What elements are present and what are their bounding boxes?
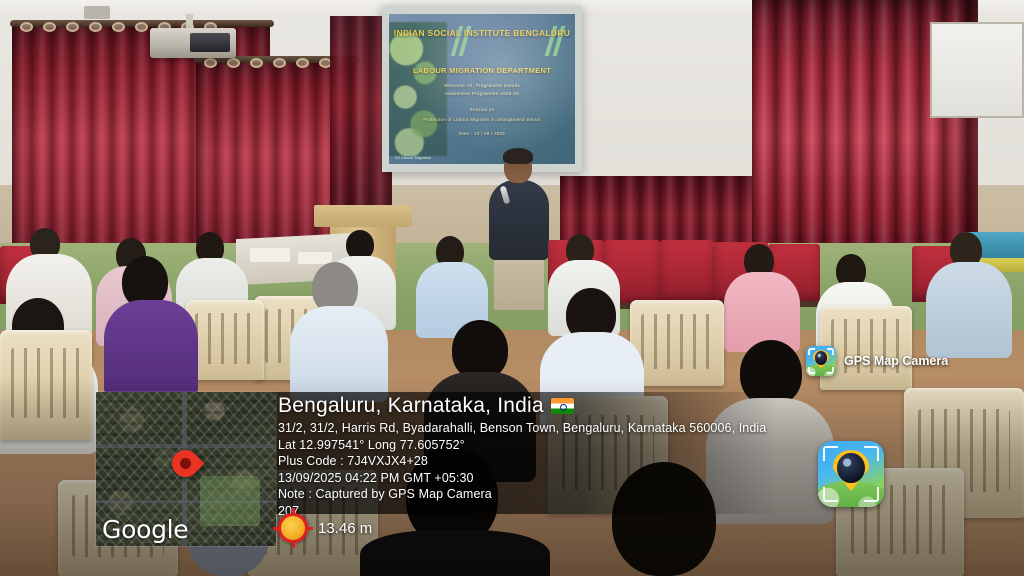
- chair-slats: [11, 348, 81, 418]
- curtain-ring: [112, 22, 125, 32]
- curtain-rings-mid: [204, 58, 332, 68]
- slide-subtitle-2: Awareness Programme 2025-26: [389, 90, 575, 97]
- ceiling-projector: [150, 28, 236, 58]
- curtain-ring: [20, 22, 33, 32]
- whiteboard: [930, 22, 1024, 118]
- slide-badge: ISI Labour Migration: [395, 155, 431, 160]
- capture-timestamp: 13/09/2025 04:22 PM GMT +05:30: [278, 470, 838, 487]
- presenter-hair: [503, 148, 533, 164]
- altitude-value: 13.46 m: [318, 520, 372, 537]
- chair-slats: [641, 314, 712, 369]
- slide-accent-stripe: [451, 26, 464, 56]
- altitude-row: 13.46 m: [278, 513, 372, 543]
- projection-screen: INDIAN SOCIAL INSTITUTE BENGALURU LABOUR…: [389, 14, 575, 164]
- gps-map-camera-logo: [818, 441, 884, 507]
- slide-image-collage: [389, 22, 447, 156]
- curtain-ring: [66, 22, 79, 32]
- map-park-area: [200, 476, 260, 526]
- location-plus-code: Plus Code : 7J4VXJX4+28: [278, 453, 838, 470]
- curtain-ring: [43, 22, 56, 32]
- compass-icon: [278, 513, 308, 543]
- india-flag-icon: [551, 398, 574, 414]
- gps-map-camera-icon: [806, 346, 836, 376]
- gps-map-camera-badge: GPS Map Camera: [806, 346, 948, 376]
- red-chair: [660, 240, 714, 304]
- podium-top: [314, 205, 412, 227]
- capture-note: Note : Captured by GPS Map Camera: [278, 486, 838, 503]
- ceiling-sensor: [84, 6, 110, 19]
- map-thumbnail[interactable]: Google: [96, 392, 276, 546]
- table-item: [250, 248, 290, 262]
- curtain-ring: [250, 58, 263, 68]
- location-address: 31/2, 31/2, Harris Rd, Byadarahalli, Ben…: [278, 420, 838, 437]
- slide-accent-stripe: [553, 26, 566, 56]
- slide-accent-stripe: [459, 26, 472, 56]
- curtain-ring: [227, 58, 240, 68]
- slide-department: LABOUR MIGRATION DEPARTMENT: [389, 66, 575, 75]
- plastic-chair: [630, 300, 724, 386]
- curtain-ring: [135, 22, 148, 32]
- slide-subtitle-3: Session on: [389, 106, 575, 113]
- slide-subtitle-1: Welcome All, Programme Details: [389, 82, 575, 89]
- chair-slats: [195, 313, 254, 364]
- projector-lens: [190, 33, 230, 52]
- curtain-ring: [204, 58, 217, 68]
- gps-map-camera-label: GPS Map Camera: [844, 354, 948, 368]
- curtain-ring: [296, 58, 309, 68]
- gps-map-camera-photo: INDIAN SOCIAL INSTITUTE BENGALURU LABOUR…: [0, 0, 1024, 576]
- presenter-body: [489, 180, 549, 260]
- presenter-legs: [494, 254, 544, 310]
- google-watermark: Google: [102, 515, 188, 544]
- location-coordinates: Lat 12.997541° Long 77.605752°: [278, 437, 838, 454]
- location-title-row: Bengaluru, Karnataka, India: [278, 394, 838, 418]
- slide-organization: INDIAN SOCIAL INSTITUTE BENGALURU: [389, 28, 575, 38]
- slide-subtitle-4: Protection of Labour Migrants in Unorgan…: [389, 116, 575, 123]
- slide-accent-stripe: [545, 26, 558, 56]
- gps-info-block: Bengaluru, Karnataka, India 31/2, 31/2, …: [278, 394, 838, 519]
- curtain-ring: [89, 22, 102, 32]
- location-title: Bengaluru, Karnataka, India: [278, 394, 544, 418]
- plastic-chair: [0, 330, 92, 440]
- slide-subtitle-5: Date : 13 / 09 / 2025: [389, 130, 575, 137]
- curtain-ring: [273, 58, 286, 68]
- table-item: [298, 252, 332, 264]
